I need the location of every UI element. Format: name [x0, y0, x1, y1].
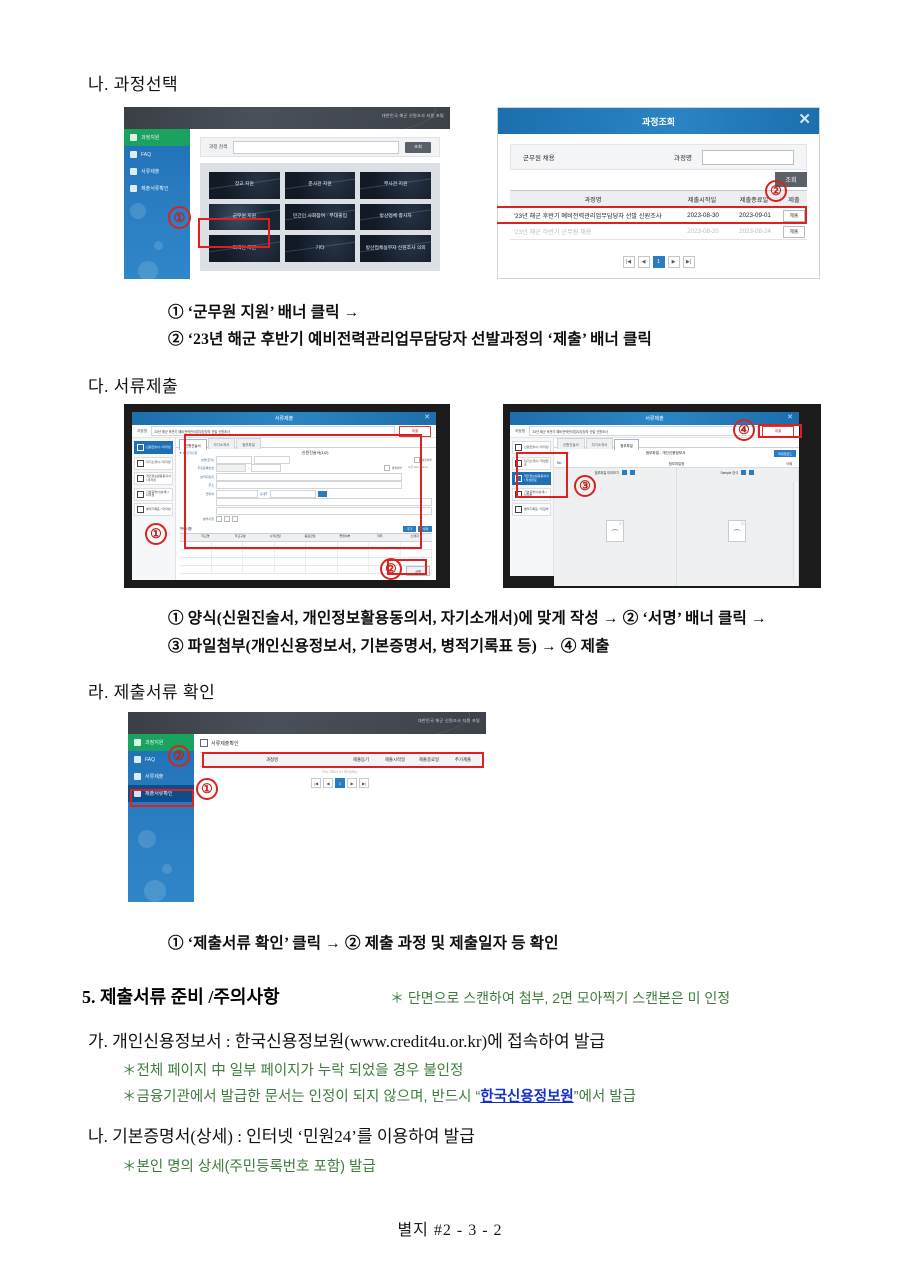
course-tile-grid: 장교 지원 준사관 지원 부사관 지원 군무원 지원 민간인 사회참여 · 부대…: [209, 172, 431, 262]
step-item-basic-certificate[interactable]: 기본증명서(상세) / 미작성: [134, 488, 173, 501]
app-title-text: 서류제출: [275, 415, 293, 422]
caption-b-line-1: ① ‘군무원 지원’ 배너 클릭 →: [168, 300, 360, 322]
caption-b-line-2: ② ‘23년 해군 후반기 예비전력관리업무담당자 선발과정의 ‘제출’ 배너 …: [168, 327, 652, 349]
heading-document-submit: 다. 서류제출: [88, 372, 178, 397]
screenshot-file-attachment: 서류제출 ✕ 과정명 '23년 해군 후반기 예비전력관리업무담당자 선발 신원…: [503, 404, 821, 588]
highlight-box-form-area: [184, 434, 422, 549]
preview-right-label: Sample 양식: [720, 470, 738, 475]
file-upload-button[interactable]: 파일업로드: [774, 450, 796, 457]
heading-confirm-documents: 라. 제출서류 확인: [88, 678, 215, 703]
caption-d-line-1: ① ‘제출서류 확인’ 클릭 → ② 제출 과정 및 제출일자 등 확인: [168, 931, 559, 953]
pager-page-1[interactable]: 1: [335, 778, 345, 788]
app-titlebar: 서류제출 ✕: [132, 412, 436, 425]
pager-next[interactable]: ▶: [668, 256, 680, 268]
pager-last[interactable]: ▶|: [683, 256, 695, 268]
row-submit-button[interactable]: 제출: [783, 226, 805, 238]
tab-self-introduction[interactable]: 자기소개서: [586, 438, 614, 449]
heading-course-select: 나. 과정선택: [88, 70, 178, 95]
preview-left-label: 첨부파일 미리보기: [595, 470, 619, 475]
document-icon: [137, 506, 144, 513]
sidebar-item-submitted-docs[interactable]: 제출서류확인: [124, 180, 190, 197]
speech-icon: [134, 756, 141, 763]
pager-prev[interactable]: ◀: [638, 256, 650, 268]
cell-course-name: '23년 해군 하반기 군무원 채용: [510, 227, 677, 236]
highlight-box-attachment-steps: [516, 452, 568, 498]
course-label: 과정명: [515, 429, 525, 434]
sidebar-item-label: 서류제출: [141, 168, 159, 175]
breadcrumb-label: 서류제출확인: [211, 740, 239, 747]
item-a-line: 가. 개인신용정보서 : 한국신용정보원(www.credit4u.or.kr)…: [88, 1027, 605, 1052]
document-icon: [137, 491, 144, 498]
app-titlebar: 서류제출 ✕: [510, 412, 799, 425]
table-row[interactable]: '23년 해군 하반기 군무원 채용 2023-08-20 2023-08-24…: [510, 224, 807, 240]
section-5-note: ＊ 단면으로 스캔하여 첨부, 2면 모아찍기 스캔본은 미 인정: [390, 988, 730, 1008]
upload-document-icon: [728, 520, 746, 542]
step-item-privacy-consent[interactable]: 개인정보활용동의서 / 미작성: [134, 472, 173, 485]
bullet-text-highlight: 한국신용정보원: [480, 1089, 573, 1105]
file-drop-zone-right[interactable]: [677, 482, 799, 580]
document-icon: [130, 168, 137, 175]
section-5-title: 5. 제출서류 준비 /주의사항: [82, 983, 280, 1009]
step-item-military-record[interactable]: 병적기록표 / 미첨부: [512, 503, 551, 516]
item-b-line: 나. 기본증명서(상세) : 인터넷 ‘민원24’를 이용하여 발급: [88, 1122, 475, 1147]
step-item-self-introduction[interactable]: 자기소개서 / 미작성: [134, 457, 173, 470]
sidebar-decor-dot: [138, 830, 156, 848]
highlight-box-sidebar-confirm: [130, 789, 194, 807]
upload-document-icon: [606, 520, 624, 542]
col-delete: 삭제: [782, 461, 796, 466]
zoom-in-icon[interactable]: [741, 470, 746, 475]
close-icon[interactable]: ✕: [424, 413, 430, 421]
highlight-box-table-header: [202, 752, 484, 768]
document-icon: [515, 444, 522, 451]
step-item-label: 자기소개서 / 미작성: [146, 461, 171, 464]
pager-first[interactable]: |◀: [623, 256, 635, 268]
close-icon[interactable]: ✕: [787, 413, 793, 421]
list-icon: [200, 739, 208, 747]
filter-category-label: 군무원 채용: [523, 152, 555, 162]
sidebar-item-label: FAQ: [145, 757, 155, 763]
tab-attachments[interactable]: 첨부파일: [614, 439, 638, 450]
checkbox-label: 미필여부: [422, 458, 432, 462]
step-item-label: 병적기록표 / 미작성: [146, 508, 171, 511]
step-marker-4-attach: ④: [733, 419, 755, 441]
preview-right-header: Sample 양식: [677, 468, 799, 477]
step-item-label: 기본증명서(상세) / 미작성: [146, 491, 172, 498]
step-item-label: 병적기록표 / 미첨부: [524, 508, 549, 511]
course-value: '23년 해군 후반기 예비전력관리업무담당자 선발 신원조사: [529, 426, 758, 436]
step-item-label: 신원진술서 / 미작성: [146, 446, 171, 449]
item-a-bullet-1: ＊전체 페이지 中 일부 페이지가 누락 되었을 경우 불인정: [122, 1059, 463, 1080]
step-marker-1-confirm: ①: [196, 778, 218, 800]
form-tabs: 신원진술서 자기소개서 첨부파일: [554, 438, 799, 448]
caption-c-line-1: ① 양식(신원진술서, 개인정보활용동의서, 자기소개서)에 맞게 작성 → ②…: [168, 606, 767, 628]
form-step-sidebar: 신원진술서 / 미작성 자기소개서 / 미작성 개인정보활용동의서 / 미작성 …: [132, 438, 176, 580]
modal-pagination: |◀ ◀ 1 ▶ ▶|: [498, 256, 819, 268]
tile-defense-industry-worker[interactable]: 방산업체 종사자: [360, 204, 431, 231]
portal-header: 대한민국 해군 신원조사 지원 포털: [124, 107, 450, 129]
sidebar-decor-dot-2: [154, 241, 163, 250]
item-a-bullet-2: ＊금융기관에서 발급한 문서는 인정이 되지 않으며, 반드시 “한국신용정보원…: [122, 1085, 636, 1106]
sidebar-item-label: 과정지원: [145, 739, 163, 746]
sidebar-item-label: 제출서류확인: [141, 185, 169, 192]
zoom-out-icon[interactable]: [630, 470, 635, 475]
modal-titlebar: 과정조회 ✕: [498, 108, 819, 134]
sidebar-decor-dot-2: [162, 864, 172, 874]
speech-icon: [130, 151, 137, 158]
pager-first[interactable]: |◀: [311, 778, 321, 788]
caption-c-line-2: ③ 파일첨부(개인신용정보서, 기본증명서, 병적기록표 등) → ④ 제출: [168, 634, 610, 656]
step-item-label: 신원진술서 / 미작성: [524, 446, 549, 449]
pager-page-1[interactable]: 1: [653, 256, 665, 268]
course-label: 과정명: [137, 429, 147, 434]
bullet-text-pre: ＊금융기관에서 발급한 문서는 인정이 되지 않으며, 반드시 “: [122, 1089, 480, 1105]
sidebar-decor-dot-3: [144, 880, 166, 902]
microphone-icon: [134, 739, 141, 746]
attachment-panel-title: 첨부파일 - 개인신용정보서: [557, 451, 774, 456]
preview-column-right: Sample 양식: [677, 468, 800, 586]
tile-officer[interactable]: 장교 지원: [209, 172, 280, 199]
document-icon: [137, 444, 144, 451]
document-icon: [137, 460, 144, 467]
portal-logo: 대한민국 해군 신원조사 지원 포털: [382, 113, 444, 119]
app-course-bar: 과정명 '23년 해군 후반기 예비전력관리업무담당자 선발 신원조사 제출: [510, 425, 799, 438]
app-title-text: 서류제출: [645, 415, 663, 422]
tile-civilian-participation[interactable]: 민간인 사회참여 · 부대출입: [285, 204, 356, 231]
tile-defense-industry-request[interactable]: 방산업체실무자 신원조사 의뢰: [360, 235, 431, 262]
microphone-icon: [130, 134, 137, 141]
pager-prev[interactable]: ◀: [323, 778, 333, 788]
sidebar-item-label: FAQ: [141, 152, 151, 158]
cell-end-date: 2023-08-24: [729, 228, 781, 235]
sidebar-decor-dot: [130, 203, 146, 219]
screenshot-form-fill: 서류제출 ✕ 과정명 '23년 해군 후반기 예비전력관리업무담당자 선발 신원…: [124, 404, 450, 588]
preview-scrollbar[interactable]: [793, 482, 798, 580]
checklist-icon: [130, 185, 137, 192]
pager-next[interactable]: ▶: [347, 778, 357, 788]
document-page: 나. 과정선택 대한민국 해군 신원조사 지원 포털 과정지원 FAQ: [0, 0, 900, 1272]
document-icon: [137, 475, 144, 482]
cell-start-date: 2023-08-20: [677, 228, 729, 235]
bullet-text-post: ”에서 발급: [574, 1089, 636, 1105]
step-marker-1-form: ①: [145, 523, 167, 545]
grid-row[interactable]: [180, 550, 432, 558]
screenshot-portal-course-list: 대한민국 해군 신원조사 지원 포털 과정지원 FAQ 서류제출: [124, 107, 450, 279]
modal-filter-row: 군무원 채용 과정명: [510, 144, 807, 170]
sidebar-item-label: 서류제출: [145, 773, 163, 780]
attachment-main-panel: 신원진술서 자기소개서 첨부파일 첨부파일 - 개인신용정보서 파일업로드 No…: [554, 438, 799, 576]
col-start-date: 제출시작일: [676, 195, 728, 204]
portal-logo: 대한민국 해군 신원조사 지원 포털: [418, 718, 480, 724]
portal-sidebar: 과정지원 FAQ 서류제출 제출서류확인: [124, 129, 190, 279]
step-marker-2-confirm: ②: [168, 745, 190, 767]
step-item-identity-statement[interactable]: 신원진술서 / 미작성: [134, 441, 173, 454]
file-drop-zone-left[interactable]: [554, 482, 676, 580]
portal-content: 과정 검색 조회 장교 지원 준사관 지원 부사관 지원 군무원 지원 민간인 …: [190, 129, 450, 279]
preview-column-left: 첨부파일 미리보기: [554, 468, 677, 586]
search-input[interactable]: [233, 141, 399, 154]
attachment-table-header: No 첨부파일명 삭제: [554, 459, 799, 468]
tile-warrant-officer[interactable]: 준사관 지원: [285, 172, 356, 199]
page-footer: 별지 #2 - 3 - 2: [0, 1216, 900, 1240]
sidebar-item-course-apply[interactable]: 과정지원: [124, 129, 190, 146]
sidebar-item-document-submit[interactable]: 서류제출: [128, 768, 194, 785]
highlight-box-submit: [758, 424, 802, 438]
confirm-pagination: |◀ ◀ 1 ▶ ▶|: [194, 778, 486, 788]
course-search-bar: 과정 검색 조회: [200, 137, 440, 157]
preview-left-header: 첨부파일 미리보기: [554, 468, 676, 477]
col-filename: 첨부파일명: [571, 461, 782, 466]
document-icon: [134, 773, 141, 780]
portal-header: 대한민국 해군 신원조사 지원 포털: [128, 712, 486, 734]
highlight-box-civilian-employee: [198, 218, 270, 248]
close-icon[interactable]: ✕: [798, 112, 811, 127]
sidebar-item-label: 과정지원: [141, 134, 159, 141]
screenshot-submitted-docs-confirm: 대한민국 해군 신원조사 지원 포털 과정지원 FAQ 서류제출: [128, 712, 486, 902]
sidebar-item-faq[interactable]: FAQ: [124, 146, 190, 163]
pager-last[interactable]: ▶|: [359, 778, 369, 788]
zoom-in-icon[interactable]: [622, 470, 627, 475]
step-marker-2-modal: ②: [765, 180, 787, 202]
empty-state-text: No data to display: [194, 767, 486, 776]
item-b-bullet-1: ＊본인 명의 상세(주민등록번호 포함) 발급: [122, 1155, 376, 1176]
checklist-icon: [515, 506, 522, 513]
course-name-label: 과정명: [674, 152, 692, 162]
step-marker-2-form: ②: [380, 558, 402, 580]
highlight-box-selected-course: [497, 206, 807, 224]
search-label: 과정 검색: [209, 144, 227, 150]
tile-etc[interactable]: 기타: [285, 235, 356, 262]
sidebar-decor-dot-3: [138, 261, 158, 279]
tab-identity-statement[interactable]: 신원진술서: [557, 438, 585, 449]
zoom-out-icon[interactable]: [749, 470, 754, 475]
breadcrumb: 서류제출확인: [194, 734, 486, 752]
tile-noncom-officer[interactable]: 부사관 지원: [360, 172, 431, 199]
step-marker-3-attach: ③: [574, 475, 596, 497]
course-tile-area: 장교 지원 준사관 지원 부사관 지원 군무원 지원 민간인 사회참여 · 부대…: [200, 163, 440, 271]
step-item-military-record[interactable]: 병적기록표 / 미작성: [134, 503, 173, 516]
step-marker-1-portal: ①: [168, 206, 191, 229]
step-item-label: 개인정보활용동의서 / 미작성: [146, 475, 172, 482]
sidebar-item-document-submit[interactable]: 서류제출: [124, 163, 190, 180]
submit-button-label: 제출: [412, 429, 419, 434]
course-name-input[interactable]: [702, 150, 794, 165]
search-button[interactable]: 조회: [405, 142, 431, 153]
col-course-name: 과정명: [510, 195, 676, 204]
modal-title-text: 과정조회: [642, 115, 675, 128]
